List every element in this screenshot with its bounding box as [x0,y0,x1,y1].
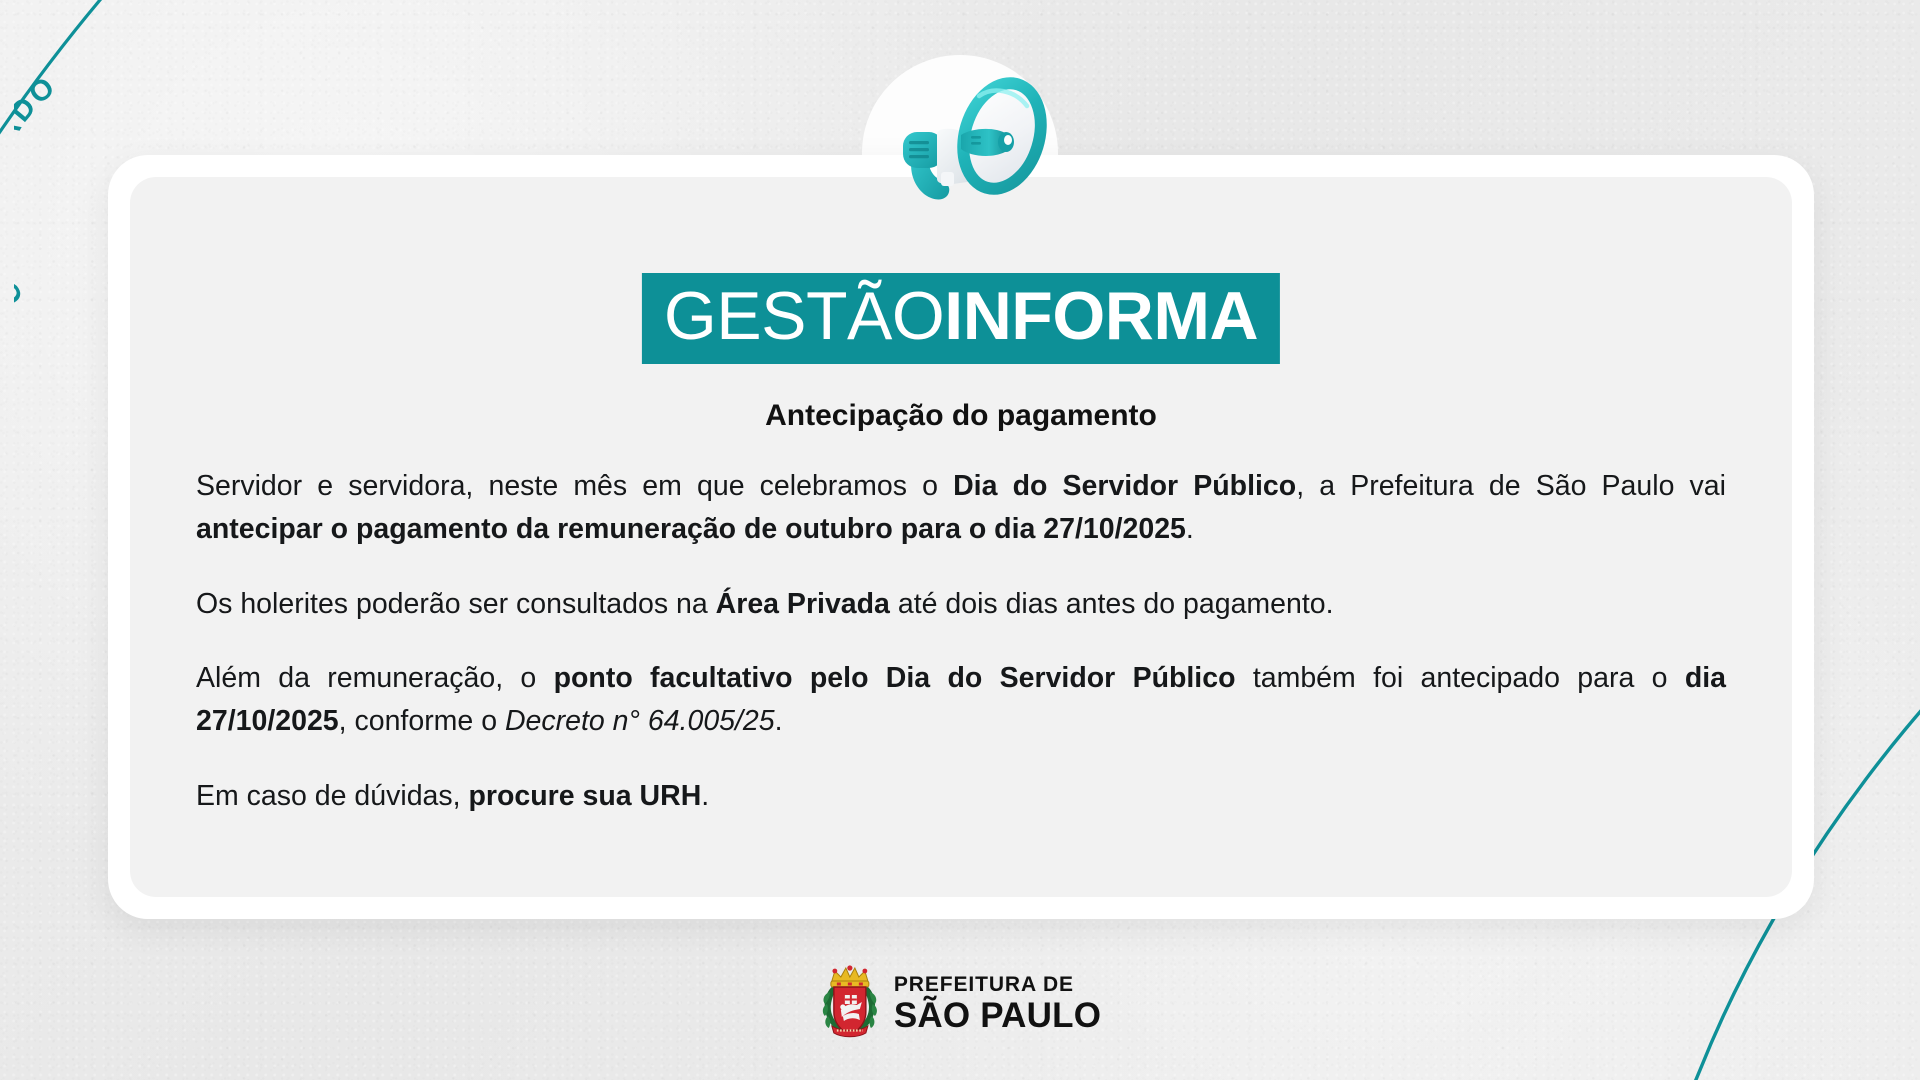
text-run-italic: Decreto n° 64.005/25 [505,705,775,737]
gestao-informa-banner: GESTÃOINFORMA [642,273,1280,364]
text-run-normal: . [701,780,709,812]
text-run-normal: , a Prefeitura de São Paulo vai [1296,470,1726,502]
paragraph-1: Servidor e servidora, neste mês em que c… [196,465,1726,552]
text-run-normal: , conforme o [339,705,505,737]
text-run-bold: Dia do Servidor Público [953,470,1296,502]
footer-line-sao-paulo: SÃO PAULO [894,998,1101,1033]
megaphone-icon [875,60,1055,215]
text-run-normal: também foi antecipado para o [1236,662,1685,694]
brand-bold-word: INFORMA [944,278,1258,354]
text-run-normal: Além da remuneração, o [196,662,554,694]
text-run-normal: até dois dias antes do pagamento. [890,588,1334,620]
footer-line-prefeitura: PREFEITURA DE [894,974,1101,995]
footer-wordmark: PREFEITURA DE SÃO PAULO [894,974,1101,1033]
text-run-normal: Servidor e servidora, neste mês em que c… [196,470,953,502]
sao-paulo-coat-of-arms-icon [819,964,881,1042]
paragraph-3: Além da remuneração, o ponto facultativo… [196,657,1726,744]
text-run-bold: ponto facultativo pelo Dia do Servidor P… [554,662,1236,694]
text-run-bold: antecipar o pagamento da remuneração de … [196,513,1186,545]
text-run-normal: . [775,705,783,737]
prefeitura-sao-paulo-logo: PREFEITURA DE SÃO PAULO [819,964,1101,1042]
body-text: Servidor e servidora, neste mês em que c… [196,465,1726,818]
brand-light-word: GESTÃO [664,278,944,354]
text-run-bold: Área Privada [716,588,890,620]
paragraph-2: Os holerites poderão ser consultados na … [196,583,1726,626]
text-run-normal: Os holerites poderão ser consultados na [196,588,716,620]
comunicado-label: COMUNICADO [14,69,63,310]
text-run-normal: Em caso de dúvidas, [196,780,468,812]
content-card: GESTÃOINFORMA Antecipação do pagamento S… [108,155,1814,919]
page-title: Antecipação do pagamento [130,399,1792,433]
text-run-normal: . [1186,513,1194,545]
paragraph-4: Em caso de dúvidas, procure sua URH. [196,775,1726,818]
communique-poster: COMUNICADO [0,0,1920,1080]
text-run-bold: procure sua URH [468,780,701,812]
content-card-inner: GESTÃOINFORMA Antecipação do pagamento S… [130,177,1792,897]
